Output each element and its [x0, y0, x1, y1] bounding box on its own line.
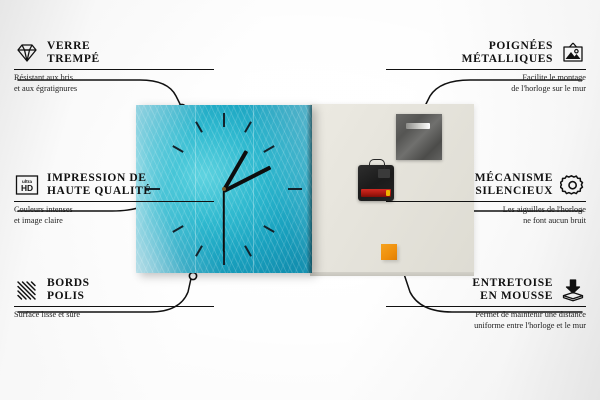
callout-divider [14, 69, 214, 70]
callout-poignees-metalliques: POIGNÉES MÉTALLIQUES Facilite le montage… [386, 40, 586, 94]
callout-mecanisme-silencieux: MÉCANISME SILENCIEUX Les aiguilles de l'… [386, 172, 586, 226]
callout-head: MÉCANISME SILENCIEUX [386, 172, 586, 198]
callout-head: ENTRETOISE EN MOUSSE [386, 277, 586, 303]
bracket-slot [406, 123, 430, 129]
framed-picture-hanging-icon [560, 41, 586, 65]
callout-head: ultra HD IMPRESSION DE HAUTE QUALITÉ [14, 172, 214, 198]
callout-head: POIGNÉES MÉTALLIQUES [386, 40, 586, 66]
callout-title: MÉCANISME SILENCIEUX [386, 172, 553, 198]
metal-bracket [396, 114, 442, 160]
callout-title: ENTRETOISE EN MOUSSE [386, 277, 553, 303]
callout-title: BORDS POLIS [47, 277, 90, 303]
callout-entretoise-en-mousse: ENTRETOISE EN MOUSSE Permet de maintenir… [386, 277, 586, 331]
callout-description: Facilite le montage de l'horloge sur le … [386, 73, 586, 93]
clock-hub [222, 187, 226, 191]
panel-seam-2 [253, 105, 254, 273]
clock-tick [223, 113, 225, 127]
hanger-loop [369, 159, 385, 169]
callout-divider [14, 201, 214, 202]
polished-edge-icon [14, 278, 40, 302]
infographic-canvas: VERRE TREMPÉ Résistant aux bris et aux é… [0, 0, 600, 400]
callout-divider [386, 201, 586, 202]
callout-verre-trempe: VERRE TREMPÉ Résistant aux bris et aux é… [14, 40, 214, 94]
callout-title: VERRE TREMPÉ [47, 40, 100, 66]
glass-edge [307, 105, 312, 273]
callout-description: Résistant aux bris et aux égratignures [14, 73, 214, 93]
callout-title: IMPRESSION DE HAUTE QUALITÉ [47, 172, 152, 198]
callout-description: Couleurs intenses et image claire [14, 205, 214, 225]
callout-head: BORDS POLIS [14, 277, 214, 303]
callout-divider [14, 306, 214, 307]
callout-description: Permet de maintenir une distance uniform… [386, 310, 586, 330]
callout-title: POIGNÉES MÉTALLIQUES [386, 40, 553, 66]
callout-divider [386, 69, 586, 70]
foam-spacer-arrow-icon [560, 278, 586, 302]
clock-tick [223, 251, 225, 265]
callout-impression-haute-qualite: ultra HD IMPRESSION DE HAUTE QUALITÉ Cou… [14, 172, 214, 226]
callout-bords-polis: BORDS POLIS Surface lisse et sûre [14, 277, 214, 321]
clock-tick [288, 188, 302, 190]
callout-description: Les aiguilles de l'horloge ne font aucun… [386, 205, 586, 225]
foam-spacer [381, 244, 397, 260]
svg-text:HD: HD [21, 183, 33, 193]
callout-head: VERRE TREMPÉ [14, 40, 214, 66]
gear-icon [560, 173, 586, 197]
second-hand [223, 190, 225, 252]
diamond-icon [14, 41, 40, 65]
callout-divider [386, 306, 586, 307]
ultra-hd-icon: ultra HD [14, 173, 40, 197]
callout-description: Surface lisse et sûre [14, 310, 214, 320]
